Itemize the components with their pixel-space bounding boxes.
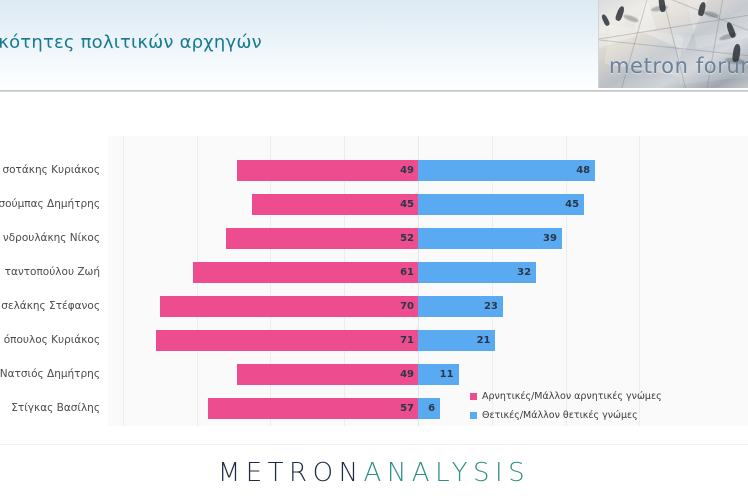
category-label: σελάκης Στέφανος	[0, 300, 100, 312]
chart-gridline	[492, 136, 493, 426]
header-divider	[0, 90, 748, 92]
legend-label-negative: Αρνητικές/Μάλλον αρνητικές γνώμες	[482, 391, 662, 402]
legend-swatch-negative-icon	[470, 393, 477, 400]
legend-item-negative[interactable]: Αρνητικές/Μάλλον αρνητικές γνώμες	[470, 388, 662, 405]
category-axis-labels: σοτάκης Κυριάκοςσούμπας Δημήτρηςνδρουλάκ…	[0, 136, 104, 426]
metron-forum-logo-image: metron forum	[598, 0, 748, 88]
brand-metron: METRON	[218, 458, 364, 488]
chart-gridline	[566, 136, 567, 426]
footer-divider	[0, 444, 748, 445]
category-label: Στίγκας Βασίλης	[0, 402, 100, 414]
brand-analysis: ANALYSIS	[364, 458, 531, 488]
chart-gridline	[639, 136, 640, 426]
page-title: ικότητες πολιτικών αρχηγών	[0, 32, 262, 53]
category-label: Νατσιός Δημήτρης	[0, 368, 100, 380]
chart-gridline	[197, 136, 198, 426]
chart-plot-area	[108, 136, 748, 426]
category-label: σοτάκης Κυριάκος	[0, 164, 100, 176]
category-label: νδρουλάκης Νίκος	[0, 232, 100, 244]
legend-item-positive[interactable]: Θετικές/Μάλλον θετικές γνώμες	[470, 407, 662, 424]
slide-root: ικότητες πολιτικών αρχηγών	[0, 0, 748, 498]
slide-header: ικότητες πολιτικών αρχηγών	[0, 0, 748, 92]
legend-label-positive: Θετικές/Μάλλον θετικές γνώμες	[482, 410, 638, 421]
chart-gridline	[344, 136, 345, 426]
metron-forum-logo-text: metron forum	[609, 54, 748, 78]
chart-gridline	[123, 136, 124, 426]
category-label: όπουλος Κυριάκος	[0, 334, 100, 346]
metron-analysis-brand: METRONANALYSIS	[0, 458, 748, 488]
chart-gridline	[418, 136, 419, 426]
slide-footer: METRONANALYSIS	[0, 444, 748, 498]
legend-swatch-positive-icon	[470, 412, 477, 419]
category-label: σούμπας Δημήτρης	[0, 198, 100, 210]
chart-legend: Αρνητικές/Μάλλον αρνητικές γνώμες Θετικέ…	[470, 388, 662, 426]
chart-container: σοτάκης Κυριάκοςσούμπας Δημήτρηςνδρουλάκ…	[0, 96, 748, 444]
category-label: ταντοπούλου Ζωή	[0, 266, 100, 278]
chart-gridline	[270, 136, 271, 426]
